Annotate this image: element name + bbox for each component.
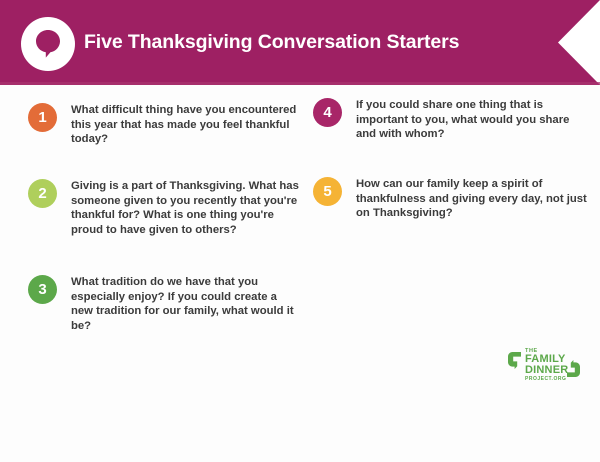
question-text-2: Giving is a part of Thanksgiving. What h… bbox=[71, 179, 300, 237]
arrow-notch-icon bbox=[540, 0, 600, 85]
question-number-badge-2: 2 bbox=[28, 179, 57, 208]
question-text-1: What difficult thing have you encountere… bbox=[71, 103, 300, 147]
footer-brand-dinner: DINNER bbox=[525, 365, 568, 376]
question-number-badge-4: 4 bbox=[313, 98, 342, 127]
infographic-page: Five Thanksgiving Conversation Starters … bbox=[0, 0, 600, 462]
question-number-badge-3: 3 bbox=[28, 275, 57, 304]
question-text-3: What tradition do we have that you espec… bbox=[71, 275, 300, 333]
brand-logo-circle bbox=[21, 17, 75, 71]
header-banner: Five Thanksgiving Conversation Starters bbox=[0, 0, 600, 85]
question-text-4: If you could share one thing that is imp… bbox=[356, 98, 591, 142]
footer-brand-wordmark: THE FAMILY DINNER PROJECT.ORG bbox=[525, 348, 568, 383]
questions-area: 1 What difficult thing have you encounte… bbox=[0, 85, 600, 462]
page-title: Five Thanksgiving Conversation Starters bbox=[84, 31, 459, 54]
question-item-4: 4 If you could share one thing that is i… bbox=[313, 98, 591, 142]
question-number-badge-5: 5 bbox=[313, 177, 342, 206]
quote-mark-left-icon bbox=[508, 352, 522, 374]
question-number-badge-1: 1 bbox=[28, 103, 57, 132]
question-item-2: 2 Giving is a part of Thanksgiving. What… bbox=[28, 179, 300, 237]
quote-mark-right-icon bbox=[566, 360, 580, 382]
question-item-5: 5 How can our family keep a spirit of th… bbox=[313, 177, 591, 221]
question-item-1: 1 What difficult thing have you encounte… bbox=[28, 103, 300, 147]
footer-brand-logo[interactable]: THE FAMILY DINNER PROJECT.ORG bbox=[508, 348, 582, 384]
question-text-5: How can our family keep a spirit of than… bbox=[356, 177, 591, 221]
question-item-3: 3 What tradition do we have that you esp… bbox=[28, 275, 300, 333]
footer-brand-project: PROJECT.ORG bbox=[525, 376, 568, 383]
